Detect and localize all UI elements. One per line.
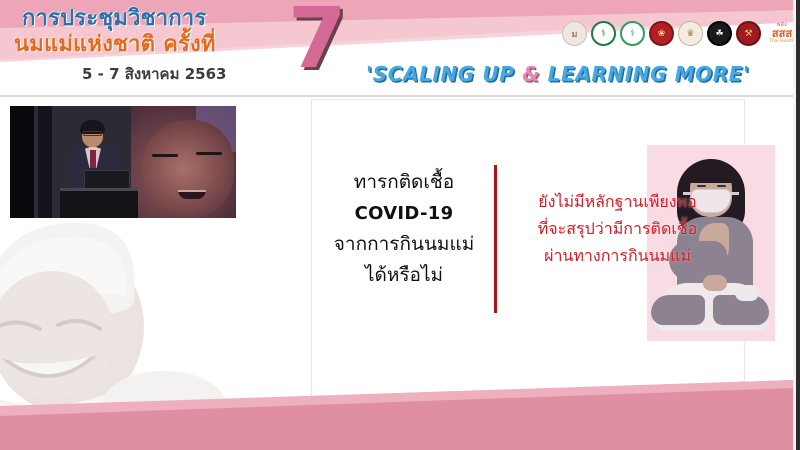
conference-tagline: 'SCALING UP & LEARNING MORE' bbox=[366, 62, 750, 86]
question-line-3: จากการกินนมแม่ bbox=[325, 229, 483, 260]
logo-royal-crown-gold-icon: ♛ bbox=[678, 21, 703, 46]
video-speaker-tie bbox=[90, 150, 96, 168]
conference-header-banner: การประชุมวิชาการ นมแม่แห่งชาติ ครั้งที่ … bbox=[0, 0, 800, 97]
logo-thai-breastfeeding-foundation-icon: ม bbox=[562, 21, 587, 46]
video-baby-eye-right bbox=[196, 152, 222, 155]
logo-glyph: ⚕ bbox=[601, 29, 606, 39]
slide-screenshot: การประชุมวิชาการ นมแม่แห่งชาติ ครั้งที่ … bbox=[0, 0, 800, 450]
conference-edition-number: 7 bbox=[288, 0, 346, 80]
logo-black-seal-icon: ☘ bbox=[707, 21, 732, 46]
logo-department-health-green-icon: ⚕ bbox=[620, 21, 645, 46]
logo-glyph: ♛ bbox=[686, 29, 694, 39]
conference-title-line2: นมแม่แห่งชาติ ครั้งที่ bbox=[14, 32, 216, 58]
slide-body: ทารกติดเชื้อ COVID-19 จากการกินนมแม่ ได้… bbox=[0, 97, 793, 450]
logo-glyph: ⚒ bbox=[744, 29, 752, 39]
illustration-eye-left bbox=[697, 185, 706, 187]
logo-university-red-icon: ⚒ bbox=[736, 21, 761, 46]
answer-text-block: ยังไม่มีหลักฐานเพียงพอ ที่จะสรุปว่ามีการ… bbox=[500, 188, 735, 269]
illustration-foot bbox=[735, 285, 759, 301]
illustration-eye-right bbox=[717, 185, 726, 187]
question-text-block: ทารกติดเชื้อ COVID-19 จากการกินนมแม่ ได้… bbox=[325, 167, 483, 291]
answer-line-1: ยังไม่มีหลักฐานเพียงพอ bbox=[500, 188, 735, 215]
video-wall-left bbox=[10, 106, 34, 218]
logo-glyph: ⚕ bbox=[630, 29, 635, 39]
question-line-1: ทารกติดเชื้อ bbox=[325, 167, 483, 198]
logo-sss-sub: Thai Health bbox=[769, 39, 794, 43]
tagline-ampersand: & bbox=[522, 62, 540, 86]
illustration-hand bbox=[703, 275, 727, 291]
answer-line-2: ที่จะสรุปว่ามีการติดเชื้อ bbox=[500, 215, 735, 242]
logo-glyph: ☘ bbox=[715, 29, 723, 39]
logo-glyph: ❀ bbox=[658, 29, 666, 39]
logo-royal-emblem-red-icon: ❀ bbox=[649, 21, 674, 46]
question-line-4: ได้หรือไม่ bbox=[325, 260, 483, 291]
video-podium bbox=[60, 188, 138, 218]
logo-ministry-public-health-green-icon: ⚕ bbox=[591, 21, 616, 46]
tagline-suffix: LEARNING MORE' bbox=[540, 62, 750, 86]
illustration-hair-front bbox=[686, 161, 736, 183]
logo-glyph: ม bbox=[572, 27, 578, 41]
video-speaker-glasses-icon bbox=[83, 131, 102, 136]
smiling-child-watermark-image bbox=[0, 209, 253, 424]
video-wall-panel bbox=[38, 106, 52, 218]
video-baby-eye-left bbox=[152, 154, 178, 157]
video-baby-face bbox=[142, 120, 234, 218]
answer-line-3: ผ่านทางการกินนมแม่ bbox=[500, 242, 735, 269]
conference-date: 5 - 7 สิงหาคม 2563 bbox=[82, 62, 226, 86]
question-answer-divider bbox=[494, 165, 497, 313]
speaker-video-thumbnail[interactable] bbox=[10, 106, 236, 218]
tagline-prefix: 'SCALING UP bbox=[366, 62, 522, 86]
window-right-edge bbox=[796, 0, 800, 450]
question-line-2: COVID-19 bbox=[325, 198, 483, 229]
conference-title-line1: การประชุมวิชาการ bbox=[22, 6, 206, 32]
sponsor-logo-row: ม ⚕ ⚕ ❀ ♛ ☘ ⚒ พลัง สสส Thai Health bbox=[562, 20, 799, 46]
illustration-leg-left bbox=[651, 295, 705, 325]
